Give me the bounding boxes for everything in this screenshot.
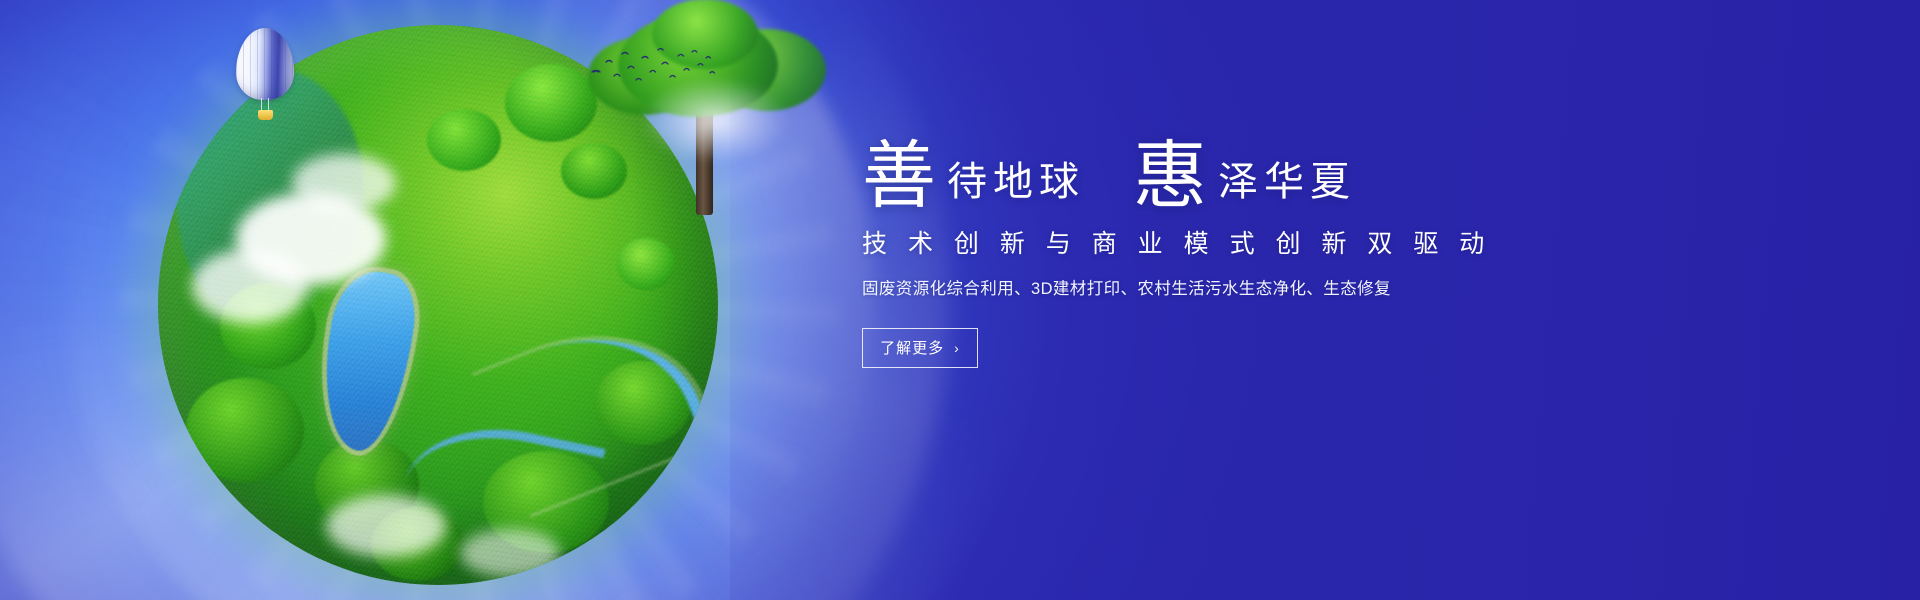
river-icon	[393, 410, 606, 577]
forest-blob	[617, 238, 675, 290]
headline-part1-large: 善	[862, 140, 937, 214]
cloud-icon	[326, 495, 446, 557]
lake-icon	[312, 266, 421, 457]
page-description: 固废资源化综合利用、3D建材打印、农村生活污水生态净化、生态修复	[862, 277, 1562, 302]
chevron-right-icon: ›	[954, 341, 960, 355]
forest-blob	[315, 439, 419, 531]
forest-blob	[186, 378, 304, 482]
birds-icon	[588, 46, 718, 92]
headline-part2-large: 惠	[1133, 140, 1208, 214]
cloud-icon	[292, 154, 396, 212]
tree-icon	[588, 7, 818, 217]
hero-banner: 善 待地球 惠 泽华夏 技 术 创 新 与 商 业 模 式 创 新 双 驱 动 …	[0, 0, 1920, 600]
page-title: 善 待地球 惠 泽华夏	[862, 118, 1562, 210]
headline-part2-small: 泽华夏	[1218, 162, 1356, 202]
headline-part1-small: 待地球	[947, 162, 1085, 202]
river-icon	[473, 301, 715, 515]
balloon-envelope	[236, 28, 294, 100]
hot-air-balloon-icon	[236, 28, 294, 124]
cloud-icon	[460, 529, 560, 577]
cloud-icon	[192, 249, 308, 323]
forest-blob	[505, 64, 597, 142]
forest-blob	[427, 109, 501, 171]
cloud-icon	[236, 193, 386, 285]
hero-content: 善 待地球 惠 泽华夏 技 术 创 新 与 商 业 模 式 创 新 双 驱 动 …	[862, 118, 1562, 368]
learn-more-button[interactable]: 了解更多 ›	[862, 328, 978, 368]
forest-blob	[371, 507, 463, 581]
balloon-basket	[258, 110, 273, 120]
forest-blob	[483, 451, 609, 553]
forest-blob	[220, 283, 316, 369]
page-subtitle: 技 术 创 新 与 商 业 模 式 创 新 双 驱 动	[862, 232, 1562, 257]
forest-blob	[595, 361, 691, 445]
learn-more-label: 了解更多	[880, 337, 944, 358]
